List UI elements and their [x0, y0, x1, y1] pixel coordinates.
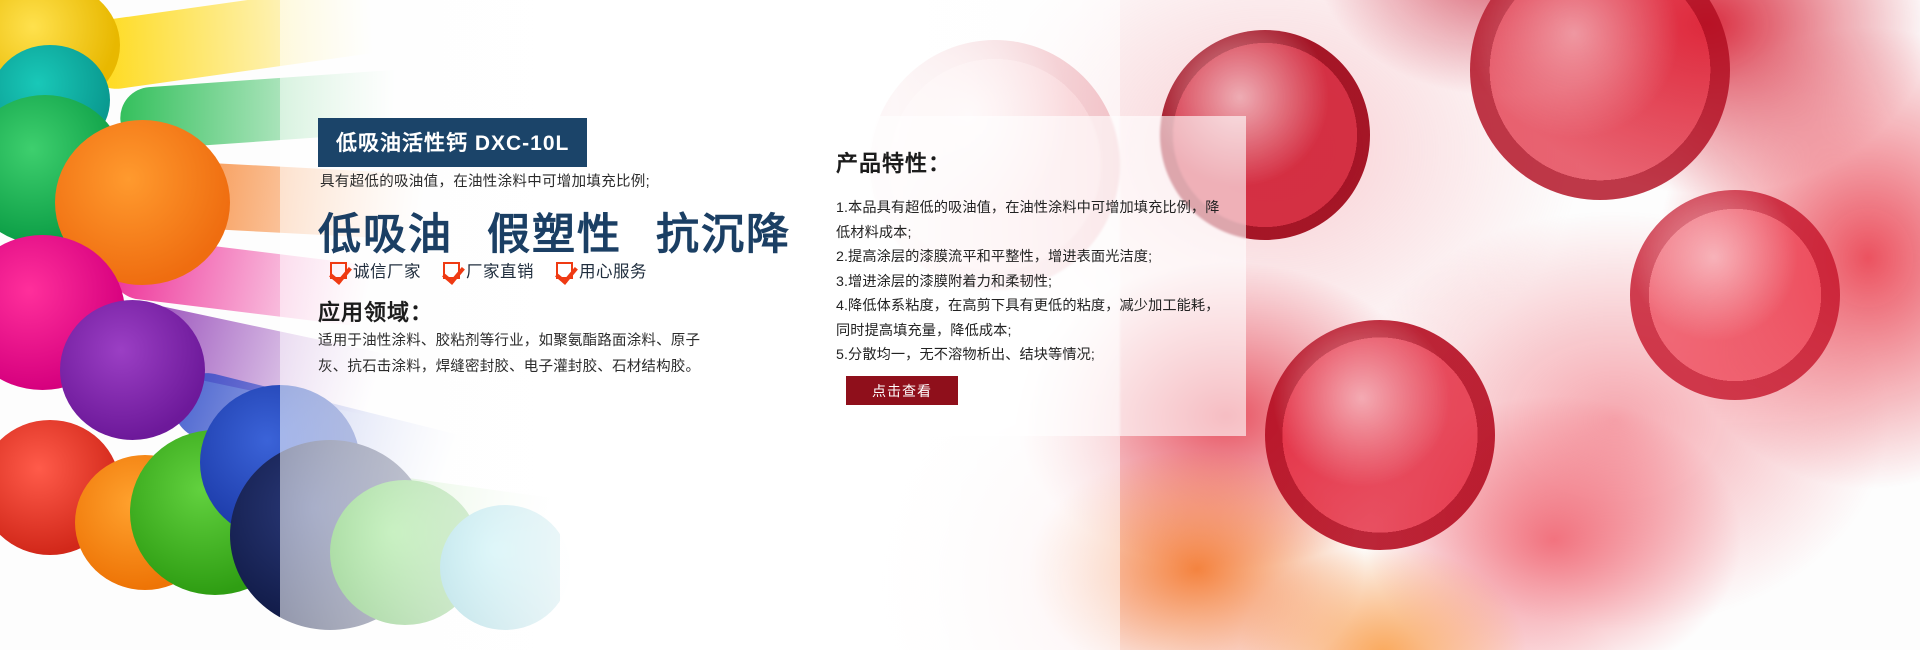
feature-item: 3.增进涂层的漆膜附着力和柔韧性;	[836, 270, 1222, 295]
application-body: 适用于油性涂料、胶粘剂等行业，如聚氨酯路面涂料、原子灰、抗石击涂料，焊缝密封胶、…	[318, 328, 718, 380]
checkbox-checked-icon	[443, 262, 460, 279]
features-list: 1.本品具有超低的吸油值，在油性涂料中可增加填充比例，降低材料成本; 2.提高涂…	[836, 196, 1222, 368]
feature-item: 2.提高涂层的漆膜流平和平整性，增进表面光洁度;	[836, 245, 1222, 270]
product-title-badge: 低吸油活性钙 DXC-10L	[318, 118, 587, 167]
trust-badge-3: 用心服务	[556, 258, 647, 282]
feature-item: 5.分散均一，无不溶物析出、结块等情况;	[836, 343, 1222, 368]
headline-word-3: 抗沉降	[656, 200, 791, 262]
headline-word-2: 假塑性	[487, 200, 622, 262]
application-heading: 应用领域：	[318, 295, 433, 327]
view-details-button[interactable]: 点击查看	[846, 376, 958, 405]
feature-item: 4.降低体系粘度，在高剪下具有更低的粘度，减少加工能耗，同时提高填充量，降低成本…	[836, 294, 1222, 343]
trust-badge-2: 厂家直销	[443, 258, 534, 282]
checkbox-checked-icon	[556, 262, 573, 279]
product-banner: 低吸油活性钙 DXC-10L 具有超低的吸油值，在油性涂料中可增加填充比例; 低…	[0, 0, 1920, 650]
product-subtitle: 具有超低的吸油值，在油性涂料中可增加填充比例;	[320, 170, 650, 191]
trust-badge-1: 诚信厂家	[330, 258, 421, 282]
trust-badge-label: 用心服务	[579, 258, 647, 282]
checkbox-checked-icon	[330, 262, 347, 279]
features-heading: 产品特性：	[836, 146, 951, 178]
feature-item: 1.本品具有超低的吸油值，在油性涂料中可增加填充比例，降低材料成本;	[836, 196, 1222, 245]
trust-badge-label: 厂家直销	[466, 258, 534, 282]
trust-badge-list: 诚信厂家 厂家直销 用心服务	[330, 258, 647, 282]
banner-content: 低吸油活性钙 DXC-10L 具有超低的吸油值，在油性涂料中可增加填充比例; 低…	[0, 0, 1920, 650]
headline-word-1: 低吸油	[318, 200, 453, 262]
headline-group: 低吸油 假塑性 抗沉降	[318, 200, 791, 262]
trust-badge-label: 诚信厂家	[353, 258, 421, 282]
